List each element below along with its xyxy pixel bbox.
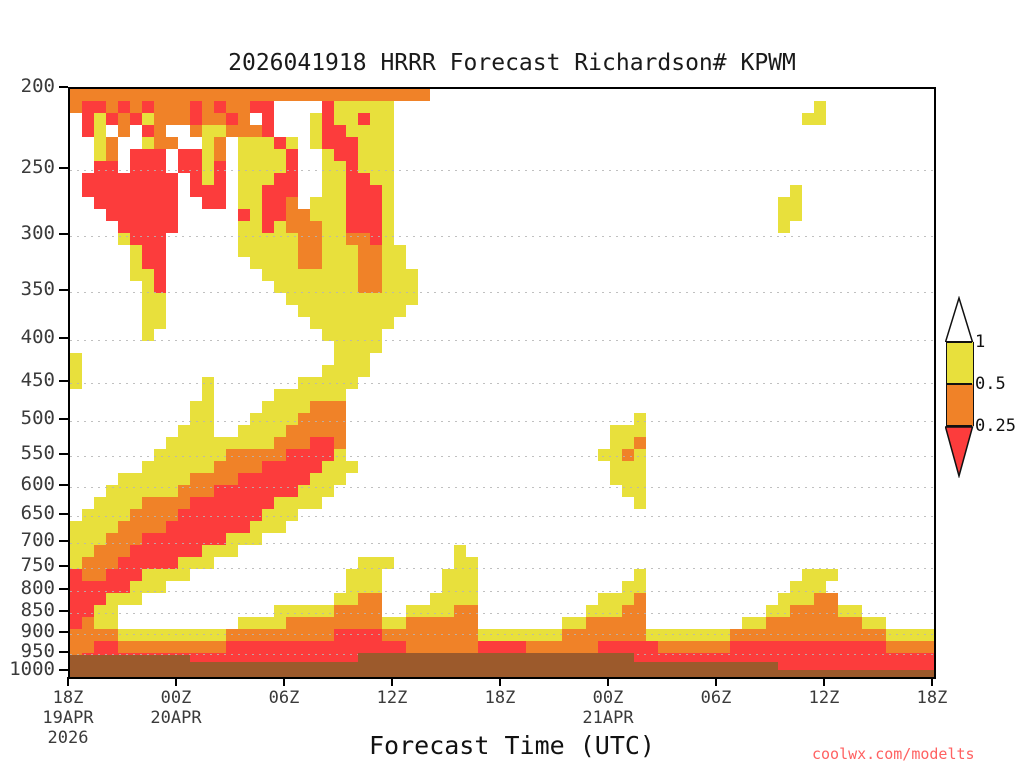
colorbar-segment [946,342,974,384]
y-tick-mark [59,337,68,339]
y-tick-label: 550 [0,442,55,464]
y-tick-label: 600 [0,473,55,495]
colorbar-label: 0.25 [975,416,1016,436]
terrain-band [70,89,934,677]
x-tick-mark [823,677,825,686]
x-tick-mark [175,677,177,686]
x-tick-label: 18Z [877,688,987,708]
y-tick-mark [59,233,68,235]
colorbar-segment [946,384,974,426]
y-tick-label: 400 [0,326,55,348]
y-tick-mark [59,167,68,169]
chart-canvas: 2026041918 HRRR Forecast Richardson# KPW… [0,0,1024,768]
y-tick-label: 300 [0,222,55,244]
y-tick-label: 850 [0,599,55,621]
y-tick-label: 500 [0,407,55,429]
y-tick-mark [59,453,68,455]
x-tick-mark [283,677,285,686]
y-tick-mark [59,289,68,291]
x-tick-mark [499,677,501,686]
y-tick-label: 700 [0,529,55,551]
x-tick-label: 18Z [445,688,555,708]
y-tick-mark [59,565,68,567]
y-tick-label: 250 [0,156,55,178]
x-tick-label: 12Z [337,688,447,708]
y-tick-label: 1000 [0,658,55,680]
x-tick-mark [67,677,69,686]
y-tick-mark [59,631,68,633]
y-tick-mark [59,651,68,653]
y-tick-mark [59,484,68,486]
y-tick-label: 450 [0,369,55,391]
x-tick-mark [931,677,933,686]
y-tick-label: 200 [0,75,55,97]
x-tick-label: 00Z21APR [553,688,663,728]
plot-area [68,87,936,679]
y-tick-label: 350 [0,278,55,300]
x-tick-label: 06Z [661,688,771,708]
y-tick-label: 750 [0,554,55,576]
y-tick-mark [59,418,68,420]
x-tick-mark [715,677,717,686]
y-tick-label: 800 [0,577,55,599]
y-tick-mark [59,86,68,88]
colorbar: 10.50.25 [941,296,1021,478]
y-tick-mark [59,610,68,612]
chart-title: 2026041918 HRRR Forecast Richardson# KPW… [0,50,1024,76]
y-tick-label: 650 [0,502,55,524]
colorbar-tick [946,341,972,343]
y-tick-mark [59,513,68,515]
y-tick-mark [59,540,68,542]
y-tick-mark [59,588,68,590]
x-tick-mark [391,677,393,686]
y-tick-mark [59,669,68,671]
watermark: coolwx.com/modelts [812,745,975,763]
x-tick-label: 12Z [769,688,879,708]
x-tick-mark [607,677,609,686]
colorbar-tick [946,383,972,385]
colorbar-label: 1 [975,332,985,352]
y-tick-mark [59,380,68,382]
colorbar-label: 0.5 [975,374,1006,394]
x-tick-label: 00Z20APR [121,688,231,728]
x-tick-label: 06Z [229,688,339,708]
